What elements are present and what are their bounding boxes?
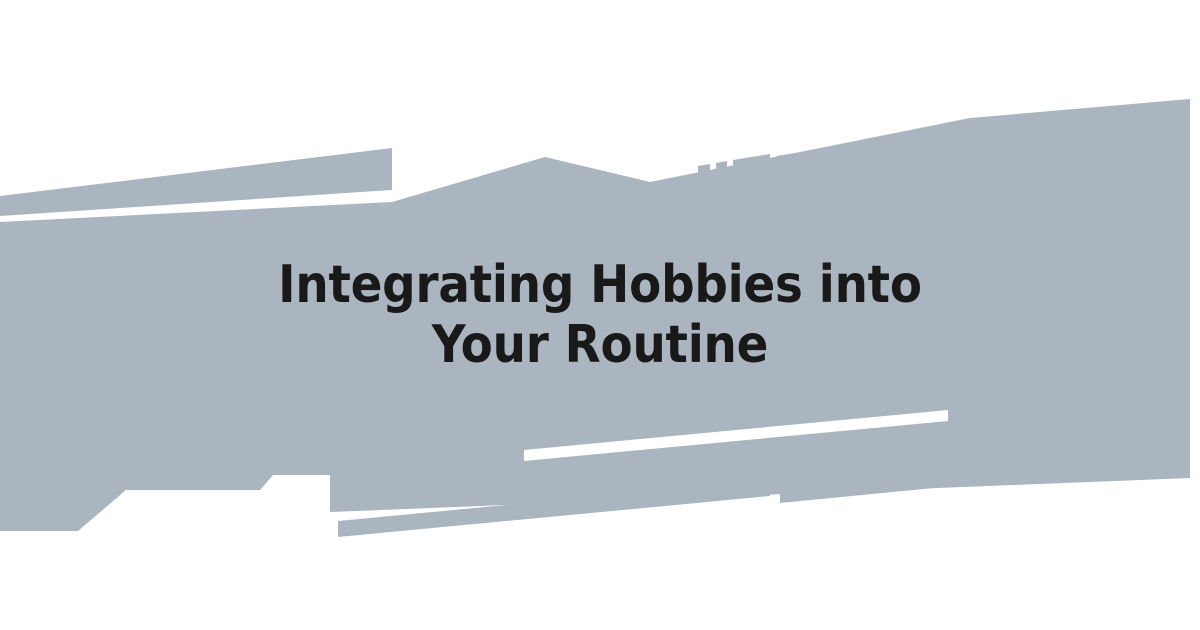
- decorative-background-art: [0, 0, 1200, 630]
- top-dash-square-1: [698, 164, 710, 182]
- banner-card: Integrating Hobbies into Your Routine: [0, 0, 1200, 630]
- top-dash-square-2: [716, 161, 727, 179]
